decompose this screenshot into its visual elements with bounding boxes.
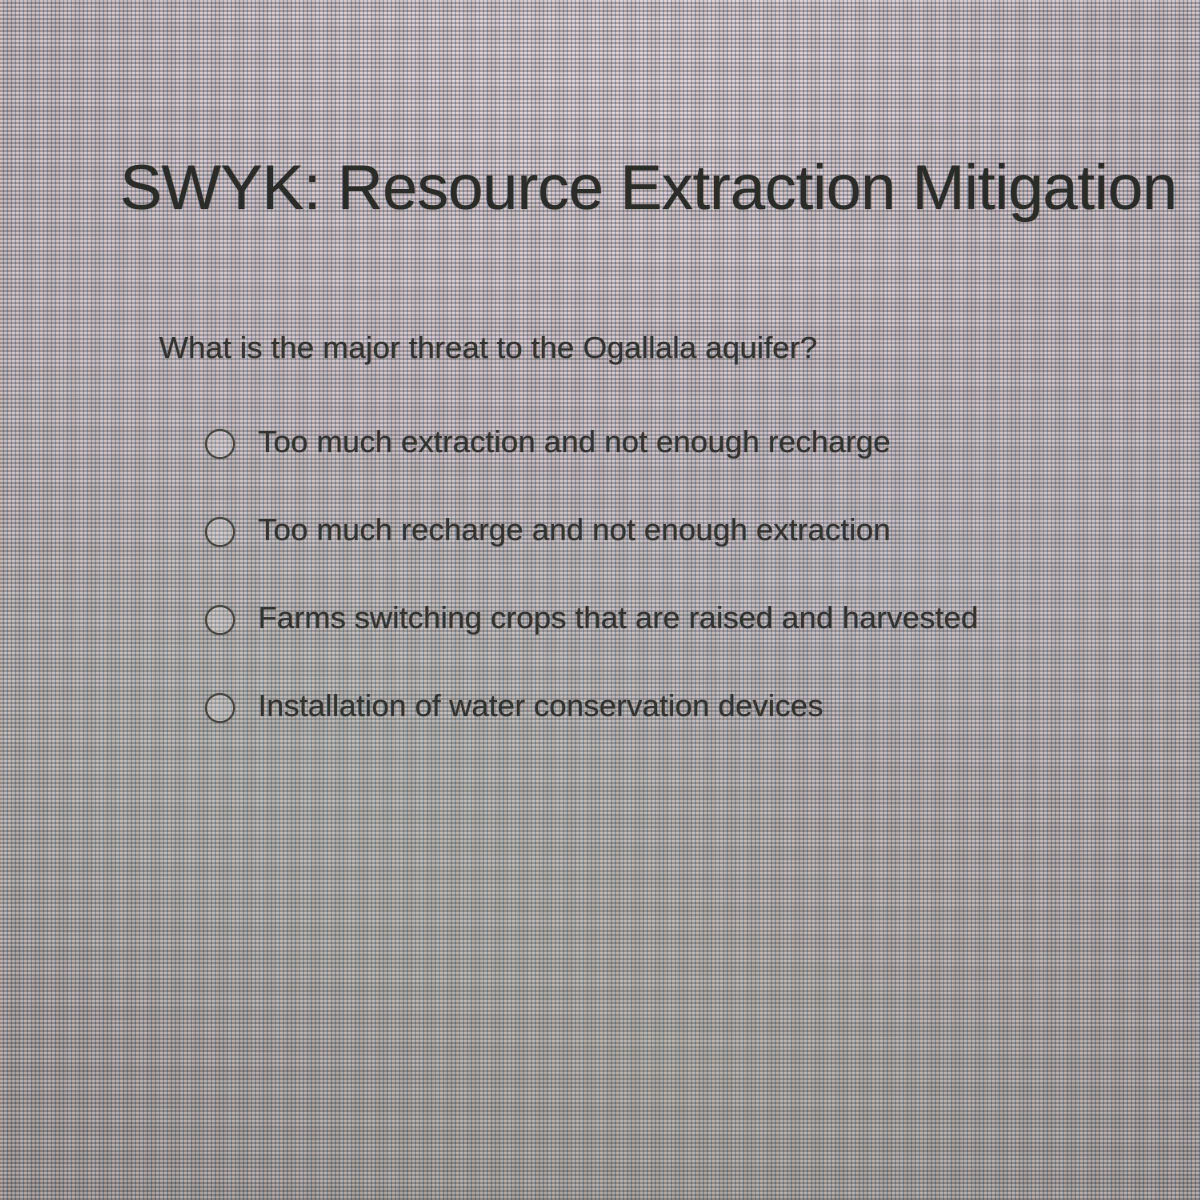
radio-unchecked-icon[interactable]: [205, 693, 235, 723]
answer-option-label: Installation of water conservation devic…: [258, 688, 823, 724]
quiz-content: SWYK: Resource Extraction Mitigation Wha…: [0, 0, 1200, 1200]
radio-unchecked-icon[interactable]: [205, 517, 235, 547]
answer-option[interactable]: Too much extraction and not enough recha…: [205, 424, 1145, 512]
answer-option-label: Farms switching crops that are raised an…: [258, 600, 978, 636]
answer-option[interactable]: Too much recharge and not enough extract…: [205, 512, 1145, 600]
radio-unchecked-icon[interactable]: [205, 429, 235, 459]
answer-option-label: Too much extraction and not enough recha…: [258, 424, 890, 460]
answer-option[interactable]: Farms switching crops that are raised an…: [205, 600, 1145, 688]
page-title: SWYK: Resource Extraction Mitigation: [120, 152, 1177, 224]
answer-option[interactable]: Installation of water conservation devic…: [205, 688, 1145, 776]
question-text: What is the major threat to the Ogallala…: [159, 330, 817, 366]
answer-option-label: Too much recharge and not enough extract…: [258, 512, 890, 548]
screen-photo: SWYK: Resource Extraction Mitigation Wha…: [0, 0, 1200, 1200]
radio-unchecked-icon[interactable]: [205, 605, 235, 635]
answer-options-list: Too much extraction and not enough recha…: [205, 424, 1145, 776]
